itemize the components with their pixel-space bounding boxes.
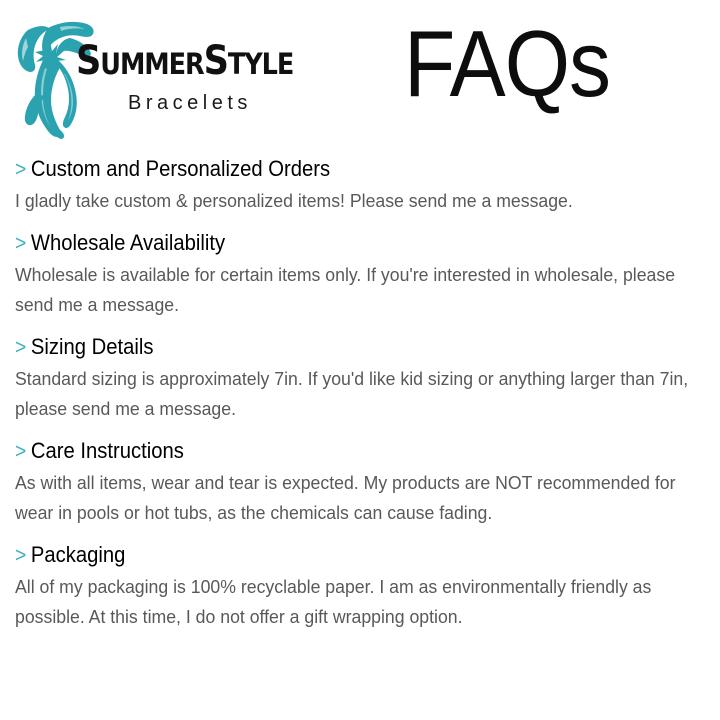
faq-body: I gladly take custom & personalized item… [15,186,698,216]
faq-heading-label: Sizing Details [31,334,154,359]
faq-body: As with all items, wear and tear is expe… [15,468,698,528]
chevron-right-icon: > [15,232,26,255]
faq-heading: >Sizing Details [15,334,650,361]
faq-item-care: >Care Instructions As with all items, we… [15,438,705,528]
faq-body: All of my packaging is 100% recyclable p… [15,572,698,632]
wordmark-s1: S [76,38,100,84]
page-title: FAQs [404,10,610,118]
faq-list: >Custom and Personalized Orders I gladly… [15,156,705,646]
faq-body: Standard sizing is approximately 7in. If… [15,364,698,424]
faq-heading-label: Wholesale Availability [31,230,225,255]
faq-heading: >Care Instructions [15,438,650,465]
faq-item-sizing: >Sizing Details Standard sizing is appro… [15,334,705,424]
faq-heading: >Packaging [15,542,650,569]
wordmark-s2: S [204,38,228,84]
brand-lockup: SUMMERSTYLE Bracelets [8,8,308,140]
chevron-right-icon: > [15,336,26,359]
chevron-right-icon: > [15,544,26,567]
chevron-right-icon: > [15,440,26,463]
page-header: SUMMERSTYLE Bracelets FAQs [0,0,720,145]
faq-heading: >Custom and Personalized Orders [15,156,650,183]
faq-heading: >Wholesale Availability [15,230,650,257]
brand-subtitle: Bracelets [128,92,252,115]
faq-heading-label: Custom and Personalized Orders [31,156,330,181]
wordmark-ummer: UMMER [100,47,203,81]
faq-heading-label: Care Instructions [31,438,184,463]
brand-wordmark: SUMMERSTYLE [76,42,293,83]
faq-item-custom-orders: >Custom and Personalized Orders I gladly… [15,156,705,216]
faq-item-packaging: >Packaging All of my packaging is 100% r… [15,542,705,632]
wordmark-tyle: TYLE [228,47,293,81]
chevron-right-icon: > [15,158,26,181]
faq-heading-label: Packaging [31,542,126,567]
faq-item-wholesale: >Wholesale Availability Wholesale is ava… [15,230,705,320]
faq-body: Wholesale is available for certain items… [15,260,698,320]
